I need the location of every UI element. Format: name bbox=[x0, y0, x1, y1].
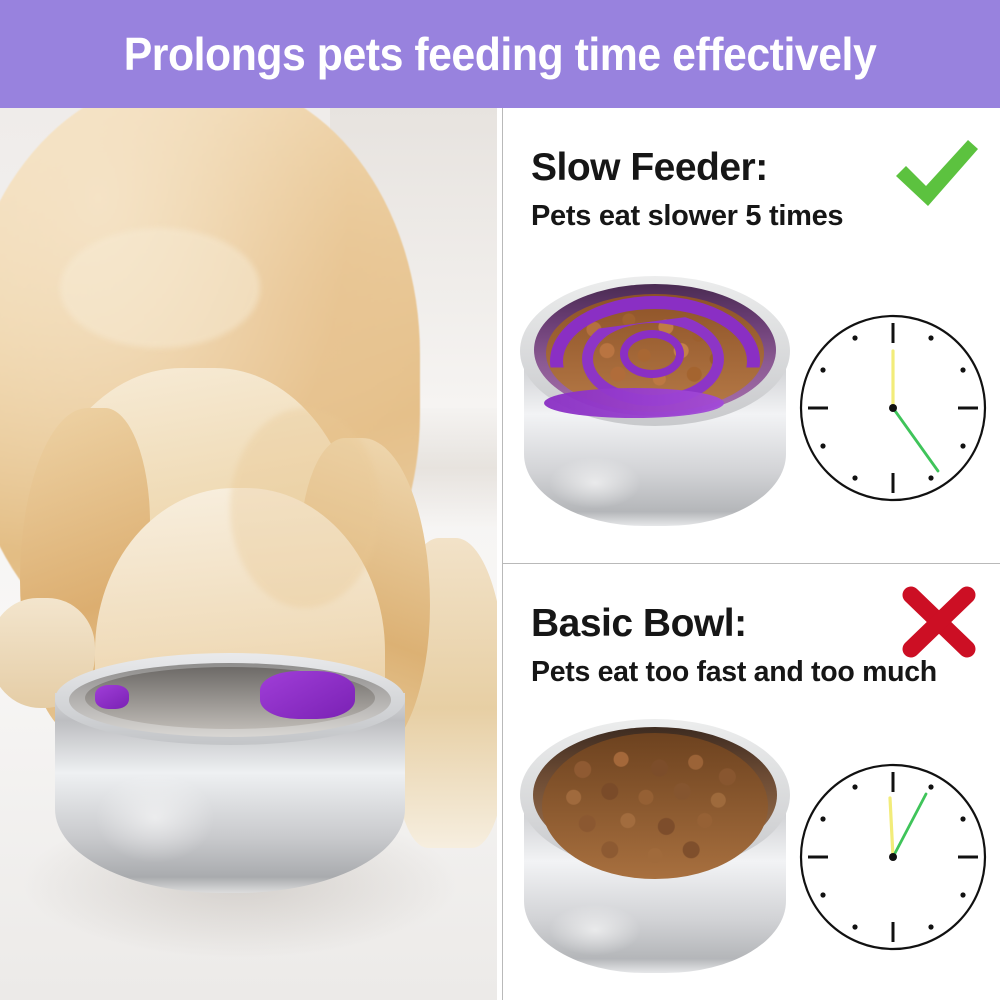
slow-feeder-spiral-inner bbox=[620, 330, 684, 378]
slow-feeder-bowl-highlight bbox=[550, 458, 640, 508]
clock-slow-feeder bbox=[798, 313, 988, 503]
photo-bowl-highlight bbox=[95, 773, 215, 863]
slow-feeder-title: Slow Feeder: bbox=[531, 146, 768, 190]
page-title: Prolongs pets feeding time effectively bbox=[35, 0, 965, 108]
x-icon bbox=[900, 586, 978, 658]
fur-highlight bbox=[60, 228, 260, 348]
basic-bowl-kibble bbox=[542, 733, 768, 879]
panel-basic-bowl: Basic Bowl: Pets eat too fast and too mu… bbox=[503, 564, 1000, 1000]
basic-bowl bbox=[520, 709, 790, 979]
basic-bowl-title: Basic Bowl: bbox=[531, 602, 747, 646]
basic-bowl-subtitle: Pets eat too fast and too much bbox=[531, 656, 937, 689]
clock-basic-bowl bbox=[798, 762, 988, 952]
slow-feeder-subtitle: Pets eat slower 5 times bbox=[531, 200, 843, 233]
panel-slow-feeder: Slow Feeder: Pets eat slower 5 times bbox=[503, 108, 1000, 563]
dog-eating-photo bbox=[0, 108, 497, 1000]
check-icon bbox=[890, 136, 982, 212]
photo-slow-feeder-nub bbox=[95, 685, 129, 709]
basic-bowl-highlight bbox=[550, 905, 640, 955]
fur-shadow bbox=[230, 408, 380, 608]
infographic-page: Prolongs pets feeding time effectively bbox=[0, 0, 1000, 1000]
photo-bowl bbox=[55, 653, 405, 903]
slow-feeder-spiral-front bbox=[544, 388, 724, 418]
header-banner: Prolongs pets feeding time effectively bbox=[0, 0, 1000, 108]
slow-feeder-bowl bbox=[520, 268, 790, 538]
photo-slow-feeder-insert bbox=[260, 671, 355, 719]
